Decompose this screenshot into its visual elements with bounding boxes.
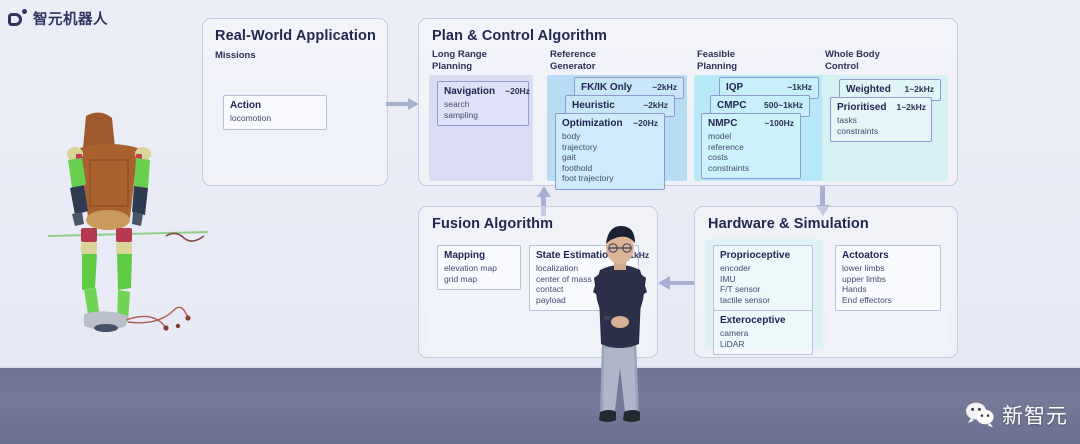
node-mapping[interactable]: Mapping elevation map grid map xyxy=(437,245,521,290)
list-item: F/T sensor xyxy=(720,284,806,295)
humanoid-robot-simulation xyxy=(48,104,208,332)
arrow-realworld-to-plan xyxy=(386,98,420,110)
node-exteroceptive-items: camera LiDAR xyxy=(720,328,806,349)
node-navigation-name: Navigation xyxy=(444,86,495,97)
column-label-long-range-planning: Long Range Planning xyxy=(432,49,487,72)
node-fk-ik-only-name: FK/IK Only xyxy=(581,82,632,93)
list-item: Hands xyxy=(842,284,934,295)
list-item: body xyxy=(562,131,658,142)
node-nmpc-freq: ~100Hz xyxy=(764,118,794,128)
presenter-person xyxy=(578,222,662,444)
list-item: sampling xyxy=(444,110,522,121)
node-cmpc-freq: 500~1kHz xyxy=(764,100,803,110)
list-item: model xyxy=(708,131,794,142)
list-item: gait xyxy=(562,152,658,163)
panel-title-plan-control: Plan & Control Algorithm xyxy=(432,28,607,44)
list-item: elevation map xyxy=(444,263,514,274)
node-mapping-items: elevation map grid map xyxy=(444,263,514,284)
node-exteroceptive-name: Exteroceptive xyxy=(720,315,786,326)
node-navigation[interactable]: Navigation ~20Hz search sampling xyxy=(437,81,529,126)
node-iqp-name: IQP xyxy=(726,82,743,93)
panel-real-world-application: Real-World Application Missions Action l… xyxy=(202,18,388,186)
node-weighted-freq: 1~2kHz xyxy=(904,84,934,94)
panel-title-real-world: Real-World Application xyxy=(215,28,376,44)
panel-title-fusion: Fusion Algorithm xyxy=(432,216,553,232)
panel-title-hardware: Hardware & Simulation xyxy=(708,216,869,232)
list-item: tasks xyxy=(837,115,925,126)
list-item: encoder xyxy=(720,263,806,274)
node-weighted-name: Weighted xyxy=(846,84,891,95)
node-action[interactable]: Action locomotion xyxy=(223,95,327,130)
label-missions: Missions xyxy=(215,50,256,61)
list-item: search xyxy=(444,99,522,110)
node-nmpc-items: model reference costs constraints xyxy=(708,131,794,173)
node-actoators[interactable]: Actoators lower limbs upper limbs Hands … xyxy=(835,245,941,311)
node-cmpc-name: CMPC xyxy=(717,100,746,111)
node-optimization-freq: ~20Hz xyxy=(633,118,658,128)
node-exteroceptive[interactable]: Exteroceptive camera LiDAR xyxy=(713,310,813,355)
node-navigation-items: search sampling xyxy=(444,99,522,120)
list-item: reference xyxy=(708,142,794,153)
node-nmpc[interactable]: NMPC ~100Hz model reference costs constr… xyxy=(701,113,801,179)
panel-plan-control-algorithm: Plan & Control Algorithm Long Range Plan… xyxy=(418,18,958,186)
list-item: constraints xyxy=(708,163,794,174)
list-item: constraints xyxy=(837,126,925,137)
list-item: foothold xyxy=(562,163,658,174)
node-heuristic-name: Heuristic xyxy=(572,100,615,111)
stage-floor xyxy=(0,368,1080,444)
channel-watermark: 新智元 xyxy=(965,400,1068,430)
node-heuristic-freq: ~2kHz xyxy=(643,100,668,110)
arrow-hardware-to-fusion xyxy=(658,276,694,290)
list-item: LiDAR xyxy=(720,339,806,350)
list-item: grid map xyxy=(444,274,514,285)
column-label-feasible-planning: Feasible Planning xyxy=(697,49,737,72)
node-optimization[interactable]: Optimization ~20Hz body trajectory gait … xyxy=(555,113,665,190)
list-item: costs xyxy=(708,152,794,163)
presentation-slide: Real-World Application Missions Action l… xyxy=(0,0,1080,368)
list-item: IMU xyxy=(720,274,806,285)
column-label-reference-generator: Reference Generator xyxy=(550,49,596,72)
node-action-name: Action xyxy=(230,100,261,111)
watermark-text: 新智元 xyxy=(1002,400,1068,430)
list-item: tactile sensor xyxy=(720,295,806,306)
wechat-icon xyxy=(965,402,995,428)
column-label-whole-body-control: Whole Body Control xyxy=(825,49,880,72)
node-actoators-items: lower limbs upper limbs Hands End effect… xyxy=(842,263,934,305)
list-item: lower limbs xyxy=(842,263,934,274)
node-prioritised-freq: 1~2kHz xyxy=(896,102,926,112)
node-action-items: locomotion xyxy=(230,113,320,124)
list-item: foot trajectory xyxy=(562,173,658,184)
node-prioritised-items: tasks constraints xyxy=(837,115,925,136)
list-item: upper limbs xyxy=(842,274,934,285)
node-prioritised-name: Prioritised xyxy=(837,102,886,113)
screenshot-stage: 智元机器人 xyxy=(0,0,1080,444)
list-item: locomotion xyxy=(230,113,320,124)
list-item: End effectors xyxy=(842,295,934,306)
list-item: camera xyxy=(720,328,806,339)
panel-hardware-simulation: Hardware & Simulation Proprioceptive enc… xyxy=(694,206,958,358)
node-fk-ik-only-freq: ~2kHz xyxy=(652,82,677,92)
node-actoators-name: Actoators xyxy=(842,250,889,261)
node-optimization-items: body trajectory gait foothold foot traje… xyxy=(562,131,658,184)
node-iqp-freq: ~1kHz xyxy=(787,82,812,92)
node-optimization-name: Optimization xyxy=(562,118,623,129)
node-proprioceptive-name: Proprioceptive xyxy=(720,250,790,261)
node-proprioceptive[interactable]: Proprioceptive encoder IMU F/T sensor ta… xyxy=(713,245,813,311)
node-proprioceptive-items: encoder IMU F/T sensor tactile sensor xyxy=(720,263,806,305)
node-nmpc-name: NMPC xyxy=(708,118,737,129)
node-prioritised[interactable]: Prioritised 1~2kHz tasks constraints xyxy=(830,97,932,142)
node-navigation-freq: ~20Hz xyxy=(505,86,530,96)
node-mapping-name: Mapping xyxy=(444,250,485,261)
list-item: trajectory xyxy=(562,142,658,153)
